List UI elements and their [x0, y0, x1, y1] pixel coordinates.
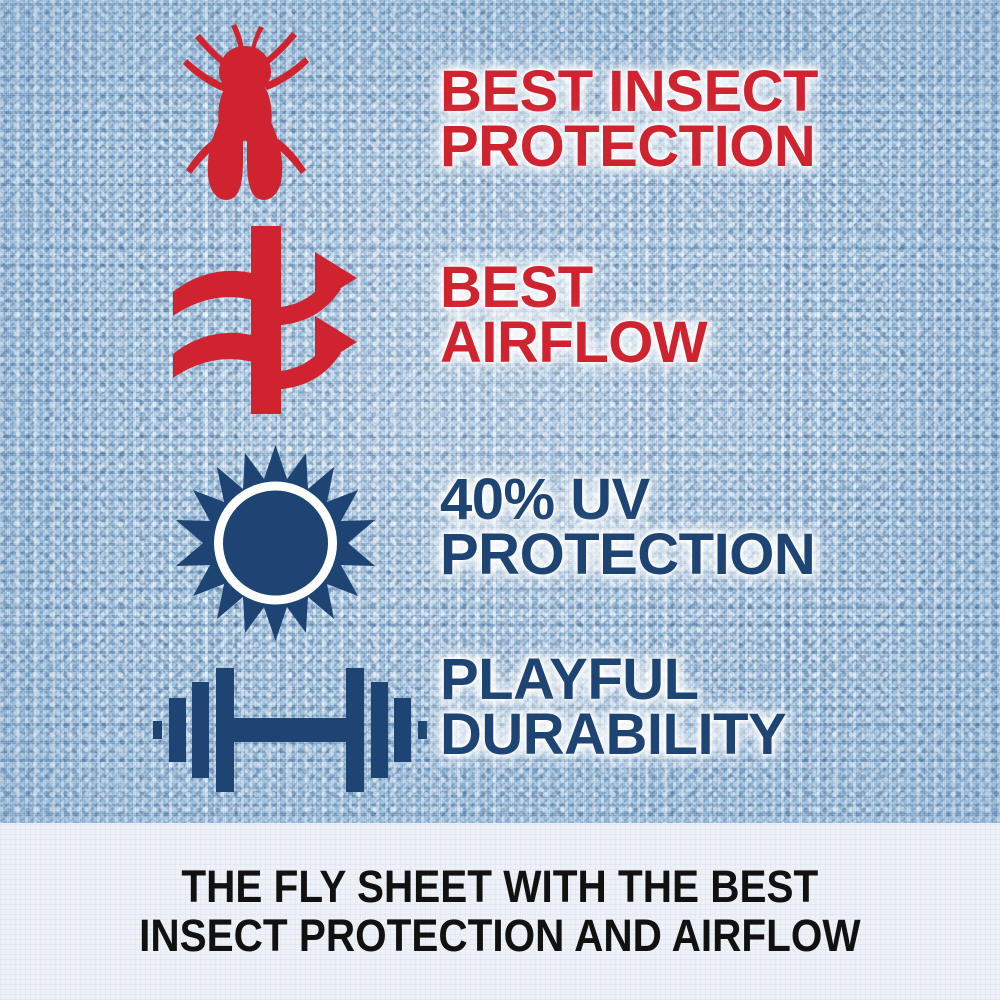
feature-insect-protection: BEST INSECT PROTECTION	[155, 14, 985, 214]
airflow-arrows-icon	[165, 222, 395, 417]
feature-durability: PLAYFUL DURABILITY	[155, 652, 985, 807]
dumbbell-icon	[150, 660, 430, 800]
caption-text: THE FLY SHEET WITH THE BEST INSECT PROTE…	[139, 863, 860, 959]
feature-airflow-label: BEST AIRFLOW	[440, 260, 707, 370]
sun-burst-icon	[173, 443, 378, 648]
product-feature-poster: BEST INSECT PROTECTION	[0, 0, 1000, 1000]
feature-airflow: BEST AIRFLOW	[155, 222, 985, 417]
feature-uv-protection-label: 40% UV PROTECTION	[440, 472, 815, 582]
feature-insect-protection-label: BEST INSECT PROTECTION	[440, 64, 818, 174]
caption-band: THE FLY SHEET WITH THE BEST INSECT PROTE…	[0, 823, 1000, 1000]
feature-durability-label: PLAYFUL DURABILITY	[440, 652, 786, 762]
feature-uv-protection: 40% UV PROTECTION	[155, 440, 985, 650]
fly-icon	[155, 14, 335, 214]
